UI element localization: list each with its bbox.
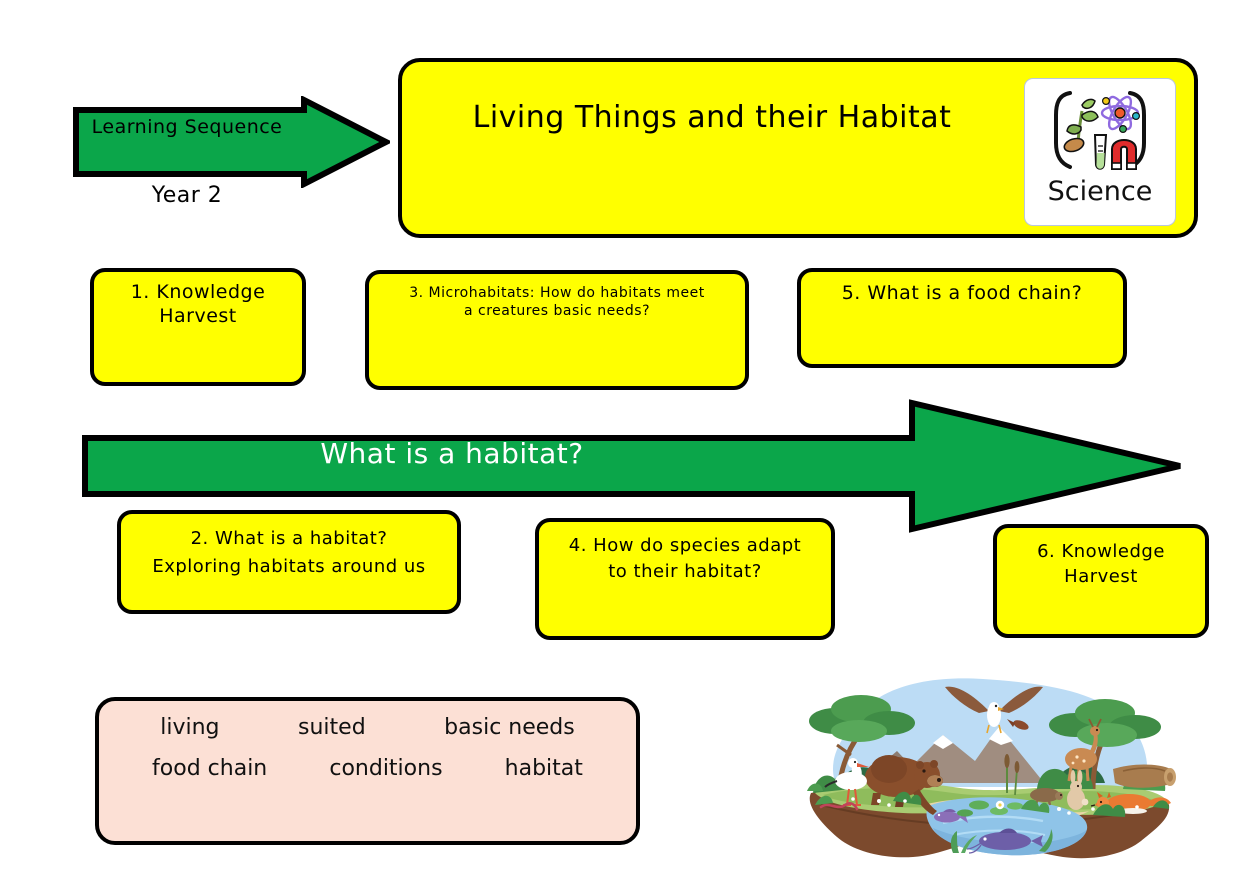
learning-sequence-arrow bbox=[72, 96, 390, 188]
learning-sequence-poster: Learning Sequence Year 2 Living Things a… bbox=[0, 0, 1260, 891]
science-icons bbox=[1048, 85, 1152, 177]
vocab-word: basic needs bbox=[444, 715, 575, 740]
vocabulary-box: living suited basic needs food chain con… bbox=[95, 697, 640, 845]
big-arrow-label: What is a habitat? bbox=[82, 436, 822, 471]
page-title: Living Things and their Habitat bbox=[432, 96, 992, 140]
lesson-card-5[interactable]: 5. What is a food chain? bbox=[797, 268, 1127, 368]
science-badge-label: Science bbox=[1048, 178, 1153, 205]
lesson-card-1[interactable]: 1. Knowledge Harvest bbox=[90, 268, 306, 386]
year-label: Year 2 bbox=[78, 182, 296, 210]
vocabulary-row-2: food chain conditions habitat bbox=[121, 756, 614, 781]
vocabulary-row-1: living suited basic needs bbox=[121, 715, 614, 740]
vocab-word: suited bbox=[298, 715, 366, 740]
lesson-card-6[interactable]: 6. Knowledge Harvest bbox=[993, 524, 1209, 638]
vocab-word: conditions bbox=[329, 756, 442, 781]
lesson-card-5-text: 5. What is a food chain? bbox=[808, 282, 1116, 306]
lesson-card-1-text: 1. Knowledge Harvest bbox=[101, 281, 295, 329]
science-subject-badge: Science bbox=[1024, 78, 1176, 226]
vocab-word: living bbox=[160, 715, 219, 740]
lesson-card-2[interactable]: 2. What is a habitat? Exploring habitats… bbox=[117, 510, 461, 614]
ecosystem-scene bbox=[793, 665, 1187, 870]
lesson-card-6-text: 6. Knowledge Harvest bbox=[1004, 539, 1198, 589]
lesson-card-4[interactable]: 4. How do species adapt to their habitat… bbox=[535, 518, 835, 640]
lesson-card-3[interactable]: 3. Microhabitats: How do habitats meet a… bbox=[365, 270, 749, 390]
habitat-ecosystem-illustration bbox=[793, 665, 1187, 870]
fallen-log bbox=[1113, 765, 1176, 788]
water-lily bbox=[996, 801, 1004, 809]
lesson-card-3-text: 3. Microhabitats: How do habitats meet a… bbox=[376, 285, 738, 320]
learning-sequence-label: Learning Sequence bbox=[78, 116, 296, 140]
arrow-shape-icon bbox=[72, 96, 390, 188]
vocab-word: habitat bbox=[505, 756, 583, 781]
lesson-card-4-text: 4. How do species adapt to their habitat… bbox=[546, 533, 824, 585]
vocab-word: food chain bbox=[152, 756, 267, 781]
lesson-card-2-text: 2. What is a habitat? Exploring habitats… bbox=[128, 525, 450, 581]
title-banner: Living Things and their Habitat bbox=[398, 58, 1198, 238]
